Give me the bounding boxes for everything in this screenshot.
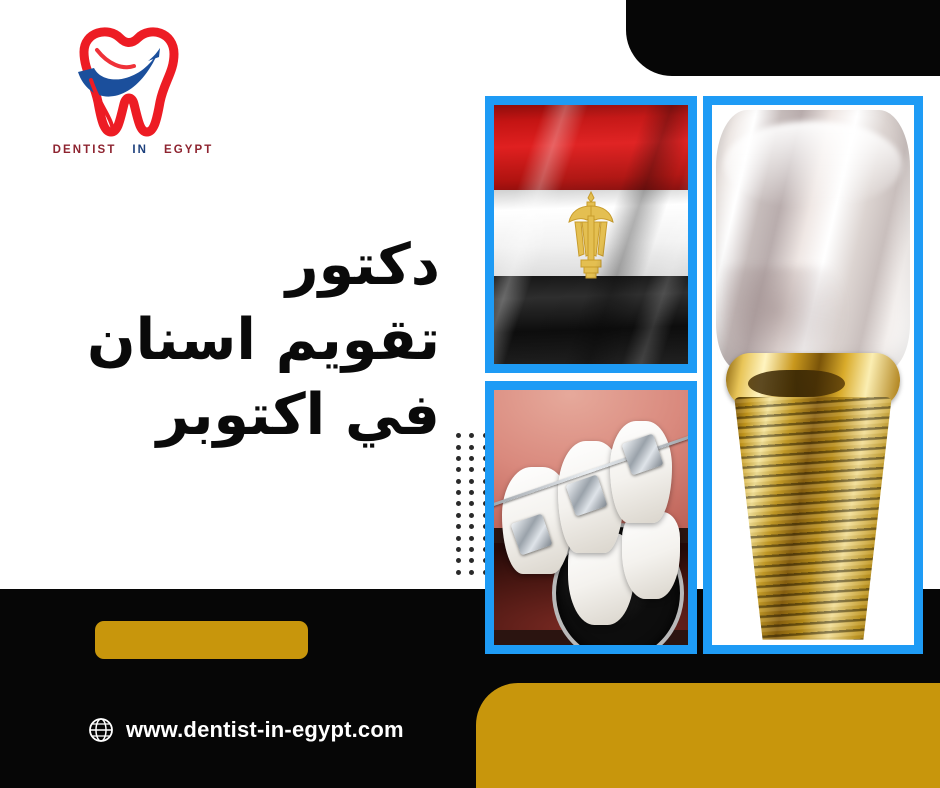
website-url[interactable]: www.dentist-in-egypt.com	[126, 717, 404, 743]
dental-implant-photo	[703, 96, 923, 654]
grid-dot	[469, 513, 474, 518]
brand-wordmark: DENTIST IN EGYPT	[48, 144, 218, 156]
dental-braces-photo	[485, 381, 697, 654]
decor-top-right-block	[626, 0, 940, 76]
braces-art	[494, 390, 688, 645]
grid-dot	[456, 524, 461, 529]
grid-dot	[469, 490, 474, 495]
wordmark-dentist: DENTIST	[53, 144, 117, 156]
grid-dot	[456, 456, 461, 461]
grid-dot	[456, 501, 461, 506]
decor-bottom-right-block	[476, 683, 940, 788]
grid-dot	[469, 524, 474, 529]
grid-dot	[469, 547, 474, 552]
grid-dot	[469, 467, 474, 472]
grid-dot	[469, 479, 474, 484]
headline-line-3: في اكتوبر	[20, 378, 440, 453]
crown-highlight	[724, 121, 902, 207]
grid-dot	[456, 547, 461, 552]
grid-dot	[469, 558, 474, 563]
tooth-logo-icon	[64, 24, 194, 139]
egypt-flag-art	[494, 105, 688, 364]
grid-dot	[456, 445, 461, 450]
grid-dot	[456, 513, 461, 518]
eagle-of-saladin-icon	[565, 190, 617, 286]
headline-arabic: دكتور تقويم اسنان في اكتوبر	[20, 228, 440, 454]
grid-dot	[456, 570, 461, 575]
flag-stripe-black	[494, 276, 688, 364]
grid-dot	[469, 536, 474, 541]
implant-screw-threads	[734, 397, 892, 640]
grid-dot	[456, 536, 461, 541]
implant-collar-inner	[748, 370, 845, 397]
tooth	[622, 512, 680, 599]
gold-accent-bar	[95, 621, 308, 659]
globe-icon	[88, 717, 114, 743]
brand-logo[interactable]: DENTIST IN EGYPT	[48, 24, 218, 174]
grid-dot	[469, 501, 474, 506]
implant-art	[712, 105, 914, 645]
grid-dot	[456, 467, 461, 472]
wordmark-egypt: EGYPT	[164, 144, 213, 156]
grid-dot	[456, 558, 461, 563]
flag-stripe-red	[494, 105, 688, 193]
grid-dot	[456, 433, 461, 438]
egypt-flag-photo	[485, 96, 697, 373]
grid-dot	[469, 433, 474, 438]
grid-dot	[469, 570, 474, 575]
grid-dot	[469, 456, 474, 461]
poster-canvas: DENTIST IN EGYPT دكتور تقويم اسنان في اك…	[0, 0, 940, 788]
headline-line-2: تقويم اسنان	[20, 303, 440, 378]
grid-dot	[456, 479, 461, 484]
headline-line-1: دكتور	[20, 228, 440, 303]
grid-dot	[469, 445, 474, 450]
wordmark-in: IN	[132, 144, 148, 156]
website-row[interactable]: www.dentist-in-egypt.com	[88, 712, 404, 748]
grid-dot	[456, 490, 461, 495]
